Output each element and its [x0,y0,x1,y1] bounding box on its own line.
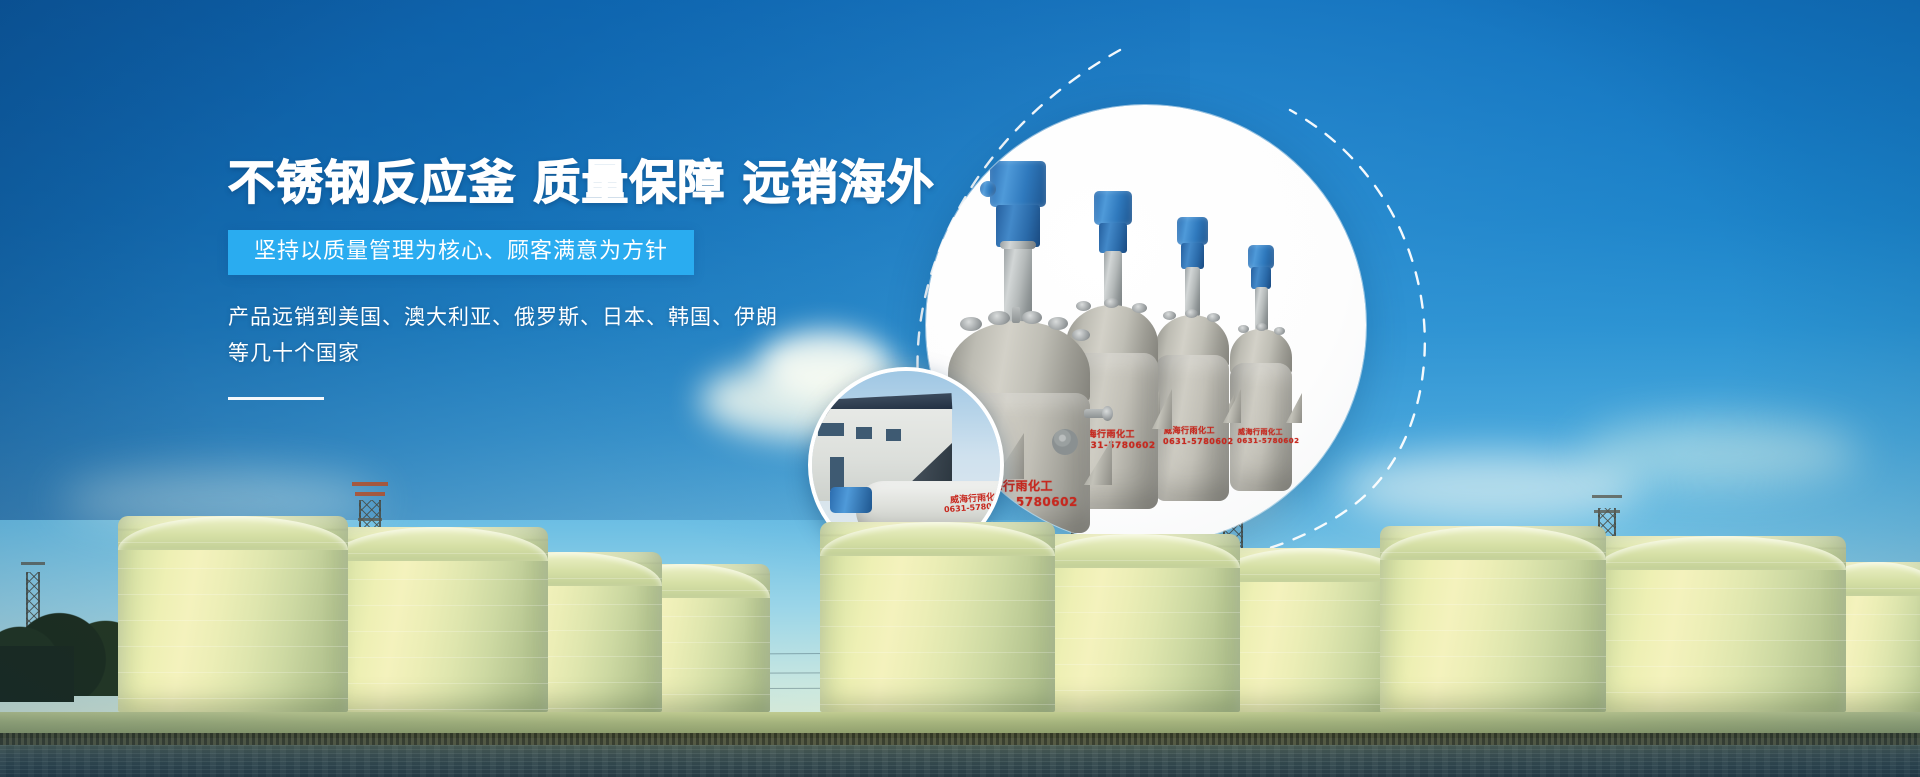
hero-banner: 威海行雨化工 0631-5780602 威海行雨化工 0631-5780602 [0,0,1920,777]
banner-copy: 不锈钢反应釜 质量保障 远销海外 坚持以质量管理为核心、顾客满意为方针 产品远销… [228,160,908,400]
sc-window [886,429,901,441]
sc-window [818,423,844,436]
sc-door [830,457,844,491]
storage-tank [820,522,1055,712]
storage-tank [1596,536,1846,712]
storage-tank [1030,534,1240,712]
storage-tank [118,516,348,712]
storage-tank [1380,526,1606,712]
decorative-rule [228,397,324,400]
banner-headline: 不锈钢反应釜 质量保障 远销海外 [228,160,908,207]
storage-tank [330,527,548,712]
sc-window [856,427,872,439]
storage-tank [1212,548,1408,712]
reactor-vessel-back-3: 威海行雨化工 0631-5780602 [1226,245,1296,495]
description-line-2: 等几十个国家 [228,335,908,371]
reactor-vessel-back-2: 威海行雨化工 0631-5780602 [1151,217,1233,503]
sc-blue-motor [830,487,872,513]
description-line-1: 产品远销到美国、澳大利亚、俄罗斯、日本、韩国、伊朗 [228,299,908,335]
banner-description: 产品远销到美国、澳大利亚、俄罗斯、日本、韩国、伊朗 等几十个国家 [228,299,908,371]
banner-tagline-badge: 坚持以质量管理为核心、顾客满意为方针 [228,230,694,275]
